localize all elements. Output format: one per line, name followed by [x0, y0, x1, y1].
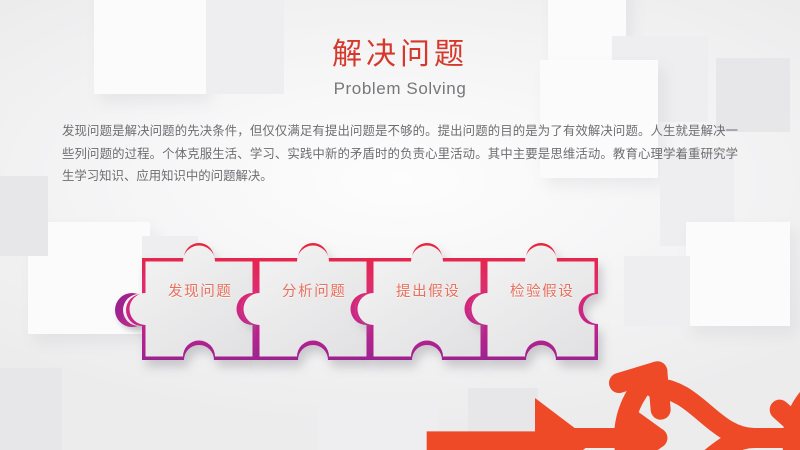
- body-paragraph-text: 发现问题是解决问题的先决条件，但仅仅满足有提出问题是不够的。提出问题的目的是为了…: [62, 120, 738, 188]
- puzzle-piece-1-label: 发现问题: [168, 280, 232, 301]
- loop-cycle-icon: [562, 338, 588, 364]
- puzzle-piece-4-label: 检验假设: [510, 280, 574, 301]
- bg-square: [0, 176, 48, 256]
- puzzle-piece-2-label: 分析问题: [282, 280, 346, 301]
- merge-arrow-icon: [448, 338, 474, 364]
- page-title: 解决问题: [0, 38, 800, 73]
- exchange-arrows-icon: [334, 338, 360, 364]
- page-header: 解决问题 Problem Solving: [0, 38, 800, 99]
- body-paragraph: 发现问题是解决问题的先决条件，但仅仅满足有提出问题是不够的。提出问题的目的是为了…: [62, 120, 738, 188]
- bg-square: [0, 368, 62, 450]
- bg-square: [686, 222, 790, 326]
- puzzle-piece-3-label: 提出假设: [396, 280, 460, 301]
- page-subtitle: Problem Solving: [0, 79, 800, 99]
- arrow-right-icon: [220, 338, 246, 364]
- puzzle-process-diagram: 发现问题 分析问题 提出假设 检验假设: [112, 206, 692, 406]
